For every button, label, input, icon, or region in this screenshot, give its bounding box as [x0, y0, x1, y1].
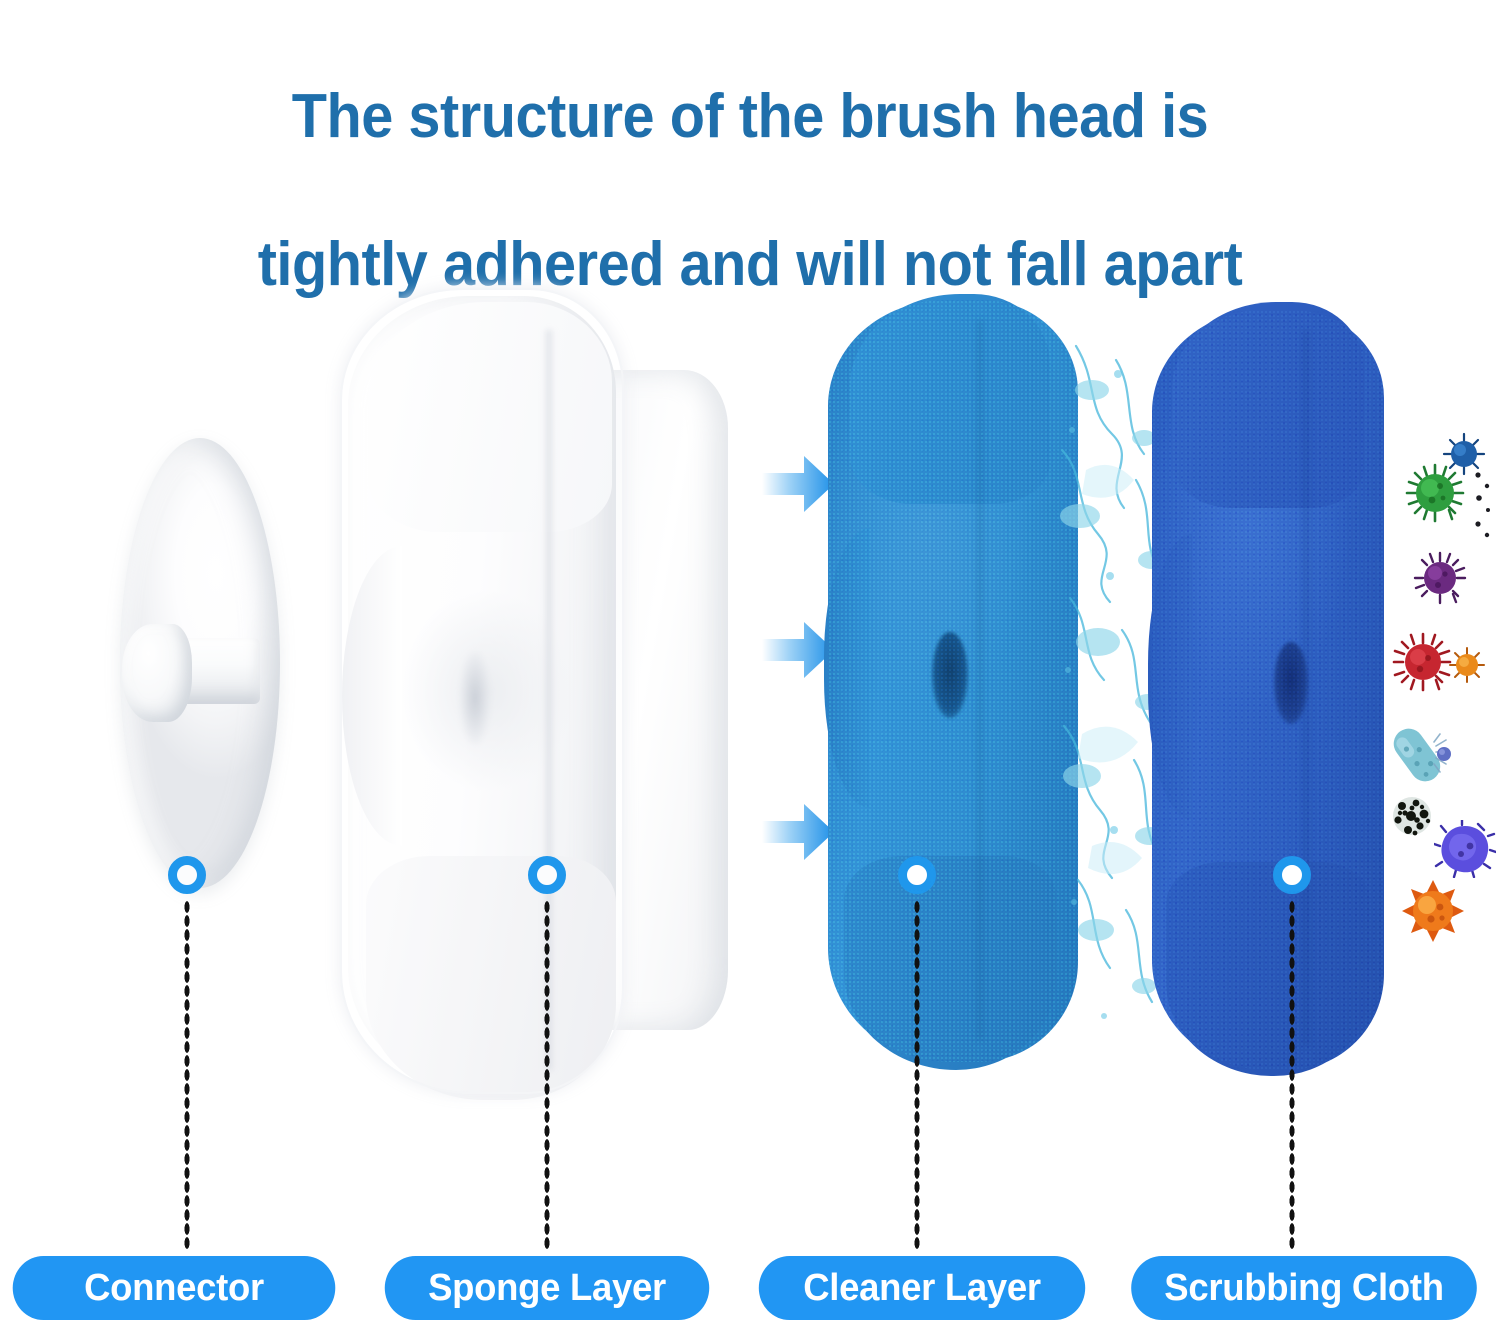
germ-violet-icon — [1434, 820, 1496, 878]
dotted-leader-icon — [544, 900, 550, 1250]
ring-marker-icon — [898, 856, 936, 894]
germ-black-icon — [1384, 788, 1440, 844]
dotted-leader-icon — [184, 900, 190, 1250]
connector-part — [110, 438, 280, 888]
sponge-center-dimple — [460, 652, 490, 744]
layer-label-scrubbing-cloth[interactable]: Scrubbing Cloth — [1131, 1256, 1477, 1320]
dotted-leader-icon — [1289, 900, 1295, 1250]
ring-marker-icon — [1273, 856, 1311, 894]
sponge-layer-part — [340, 278, 730, 1088]
scrubbing-cloth-part — [1152, 310, 1384, 1070]
layer-label-cleaner-layer[interactable]: Cleaner Layer — [759, 1256, 1085, 1320]
page-title-line-1: The structure of the brush head is — [53, 80, 1448, 154]
layer-label-text: Cleaner Layer — [803, 1267, 1041, 1310]
layer-label-sponge-layer[interactable]: Sponge Layer — [385, 1256, 709, 1320]
layer-label-connector[interactable]: Connector — [13, 1256, 336, 1320]
sponge-top-lobe — [368, 302, 612, 532]
ring-marker-icon — [168, 856, 206, 894]
germ-red-icon — [1392, 632, 1454, 692]
dotted-leader-icon — [914, 900, 920, 1250]
cleaner-layer-part — [828, 300, 1078, 1062]
germ-orange-small-icon — [1448, 646, 1486, 684]
layer-label-text: Connector — [84, 1267, 264, 1310]
arrow-right-icon — [760, 452, 836, 516]
scrubbing-texture — [1152, 310, 1384, 1070]
sponge-left-waist — [342, 546, 402, 846]
germ-teal-rod-icon — [1390, 712, 1454, 792]
ring-marker-icon — [528, 856, 566, 894]
layer-label-text: Scrubbing Cloth — [1164, 1267, 1443, 1310]
germ-spark-icon — [1472, 470, 1494, 540]
germ-purple-icon — [1412, 550, 1468, 606]
layer-label-text: Sponge Layer — [428, 1267, 666, 1310]
germ-orange-icon — [1402, 880, 1464, 942]
sponge-front-body — [348, 296, 616, 1086]
connector-knob — [122, 624, 192, 722]
infographic-canvas: The structure of the brush head is tight… — [0, 0, 1500, 1324]
arrow-right-icon — [760, 800, 836, 864]
page-title-line-2: tightly adhered and will not fall apart — [53, 228, 1448, 302]
cleaner-texture — [828, 300, 1078, 1062]
sponge-bottom-lobe — [366, 856, 616, 1100]
